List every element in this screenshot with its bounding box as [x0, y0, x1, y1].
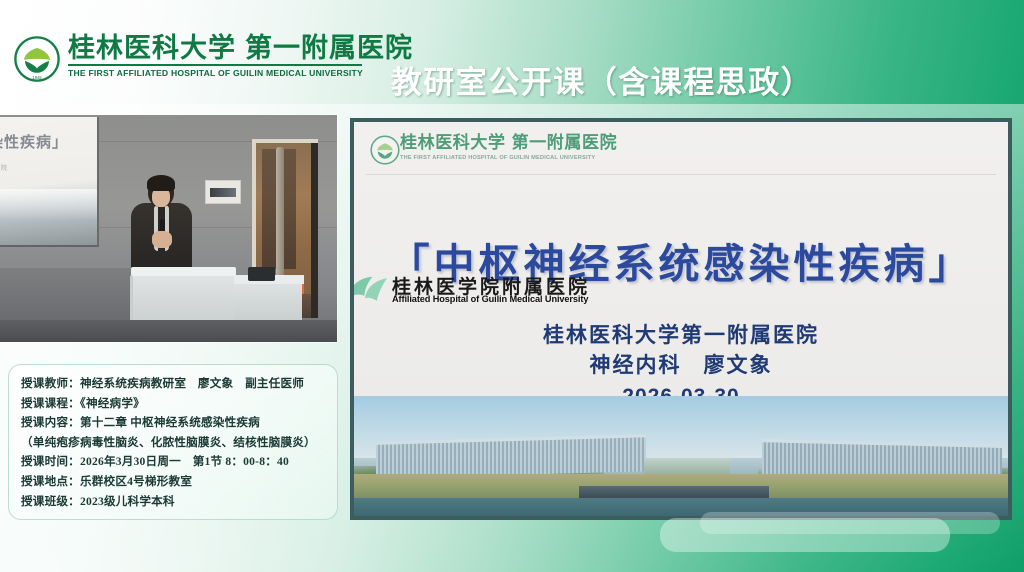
course-info-card: 授课教师：神经系统疾病教研室 廖文象 副主任医师 授课课程：《神经病学》 授课内… [8, 364, 338, 520]
photo-screen-subtitle: 医院 [0, 163, 8, 172]
presentation-page: 1948 桂林医科大学第一附属医院 THE FIRST AFFILIATED H… [0, 0, 1024, 572]
slide-hospital-name-cn-part1: 桂林医科大学 [400, 133, 506, 152]
slide-department-presenter: 神经内科廖文象 [354, 350, 1008, 380]
watermark-name-en: Affiliated Hospital of Guilin Medical Un… [392, 294, 588, 304]
photo-door-frame [311, 143, 318, 318]
page-title: 教研室公开课（含课程思政） [0, 57, 1024, 102]
info-line-location: 授课地点：乐群校区4号梯形教室 [21, 472, 337, 492]
photo-speaker-hand [152, 231, 172, 248]
page-header: 1948 桂林医科大学第一附属医院 THE FIRST AFFILIATED H… [0, 0, 1024, 112]
decorative-bar-lower [660, 518, 950, 552]
photo-door-pipe [276, 147, 284, 277]
info-line-content: 授课内容：第十二章 中枢神经系统感染性疾病 [21, 413, 337, 433]
photo-projection-screen: 染性疾病」 医院 [0, 117, 99, 247]
photo-floor [0, 320, 337, 342]
photo-screen-glare [0, 189, 97, 219]
slide-frame: 桂林医科大学第一附属医院 THE FIRST AFFILIATED HOSPIT… [350, 118, 1012, 520]
slide-institution: 桂林医科大学第一附属医院 [354, 320, 1008, 350]
info-line-class: 授课班级：2023级儿科学本科 [21, 492, 337, 512]
info-line-teacher: 授课教师：神经系统疾病教研室 廖文象 副主任医师 [21, 374, 337, 394]
info-line-course: 授课课程：《神经病学》 [21, 394, 337, 414]
slide-hospital-name-cn: 桂林医科大学第一附属医院 [400, 134, 617, 153]
photo-laptop [248, 267, 275, 281]
slide-hospital-rendering [354, 396, 1008, 516]
photo-wall-picture [205, 180, 241, 204]
photo-speaker-hair [147, 175, 175, 191]
slide-hospital-emblem-icon [370, 135, 400, 165]
info-line-content-2: （单纯疱疹病毒性脑炎、化脓性脑膜炎、结核性脑膜炎） [21, 433, 337, 453]
slide-hospital-logo: 桂林医科大学第一附属医院 THE FIRST AFFILIATED HOSPIT… [370, 134, 617, 165]
photo-screen-title: 染性疾病」 [0, 131, 68, 152]
slide-department: 神经内科 [590, 353, 682, 377]
info-line-time: 授课时间：2026年3月30日周一 第1节 8：00-8：40 [21, 452, 337, 472]
slide-hospital-name-cn-part2: 第一附属医院 [512, 133, 618, 152]
rendering-color-wash [354, 396, 1008, 516]
slide-presenter: 廖文象 [704, 353, 773, 377]
photo-stage [0, 268, 135, 322]
slide-logo-text: 桂林医科大学第一附属医院 THE FIRST AFFILIATED HOSPIT… [400, 134, 617, 161]
photo-podium-top [131, 267, 236, 276]
lecture-photo: 染性疾病」 医院 [0, 115, 337, 342]
slide-header-divider [366, 174, 996, 175]
slide-hospital-name-en: THE FIRST AFFILIATED HOSPITAL OF GUILIN … [400, 155, 617, 161]
slide-title: 「中枢神经系统感染性疾病」 [354, 230, 1008, 290]
slide-content: 桂林医科大学第一附属医院 THE FIRST AFFILIATED HOSPIT… [354, 122, 1008, 516]
